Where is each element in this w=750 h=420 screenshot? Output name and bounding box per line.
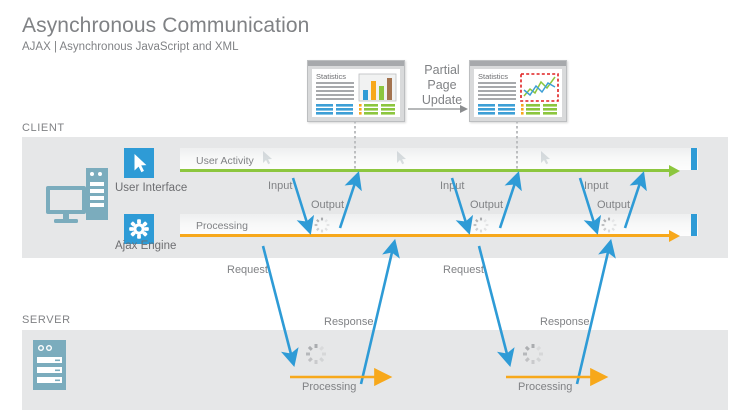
flow-label-input-3: Input xyxy=(584,180,608,192)
zone-label-client: CLIENT xyxy=(22,122,65,134)
update-highlight-border xyxy=(521,74,558,101)
flow-label-server-processing-1: Processing xyxy=(302,381,356,393)
spinner-icon-output-3 xyxy=(600,216,618,234)
browser-before-titlebar xyxy=(308,61,404,66)
dotted-connector-1 xyxy=(354,121,356,169)
zone-label-server: SERVER xyxy=(22,314,71,326)
lane-label-processing: Processing xyxy=(196,220,248,232)
spinner-icon-server-2 xyxy=(521,342,545,366)
flow-label-output-1: Output xyxy=(311,199,344,211)
cursor-ghost-icon-2 xyxy=(396,150,409,166)
ajax-processing-arrowhead xyxy=(669,230,680,242)
browser-after[interactable]: Statistics xyxy=(469,60,567,122)
page-subtitle: AJAX | Asynchronous JavaScript and XML xyxy=(22,41,238,53)
actor-label-user-interface: User Interface xyxy=(115,182,187,194)
flow-label-input-2: Input xyxy=(440,180,464,192)
spinner-icon-output-2 xyxy=(472,216,490,234)
flow-label-response-2: Response xyxy=(540,316,590,328)
flow-label-response-1: Response xyxy=(324,316,374,328)
user-activity-line xyxy=(180,169,669,172)
actor-label-ajax-engine: Ajax Engine xyxy=(115,240,176,252)
dotted-connector-2 xyxy=(516,121,518,169)
browser-after-viewport: Statistics xyxy=(474,69,562,117)
spinner-icon-server-1 xyxy=(304,342,328,366)
server-band xyxy=(22,330,728,410)
cursor-ghost-icon-3 xyxy=(540,150,553,166)
user-interface-lane xyxy=(180,148,698,170)
browser-after-heading: Statistics xyxy=(478,72,508,81)
page-title: Asynchronous Communication xyxy=(22,14,309,38)
spinner-icon-output-1 xyxy=(313,216,331,234)
cursor-ghost-icon-1 xyxy=(262,150,275,166)
flow-label-request-2: Request xyxy=(443,264,484,276)
flow-label-output-2: Output xyxy=(470,199,503,211)
user-activity-arrowhead xyxy=(669,165,680,177)
browser-before-heading: Statistics xyxy=(316,72,346,81)
lane-label-user-activity: User Activity xyxy=(196,155,254,167)
partial-page-update-arrow xyxy=(408,104,470,114)
server-rack-icon xyxy=(33,340,69,392)
ajax-processing-line xyxy=(180,234,669,237)
flow-label-server-processing-2: Processing xyxy=(518,381,572,393)
user-interface-lane-cap xyxy=(691,148,697,170)
ppu-line-2: Page xyxy=(427,78,456,92)
partial-page-update-label: Partial Page Update xyxy=(409,63,475,108)
cursor-arrow-icon xyxy=(124,148,154,178)
browser-after-titlebar xyxy=(470,61,566,66)
ppu-line-1: Partial xyxy=(424,63,459,77)
ajax-engine-lane-cap xyxy=(691,214,697,236)
browser-before[interactable]: Statistics xyxy=(307,60,405,122)
flow-label-request-1: Request xyxy=(227,264,268,276)
flow-label-input-1: Input xyxy=(268,180,292,192)
diagram-canvas: Asynchronous Communication AJAX | Asynch… xyxy=(0,0,750,420)
desktop-computer-icon xyxy=(44,168,116,230)
browser-before-viewport: Statistics xyxy=(312,69,400,117)
ajax-engine-lane xyxy=(180,214,698,236)
flow-label-output-3: Output xyxy=(597,199,630,211)
